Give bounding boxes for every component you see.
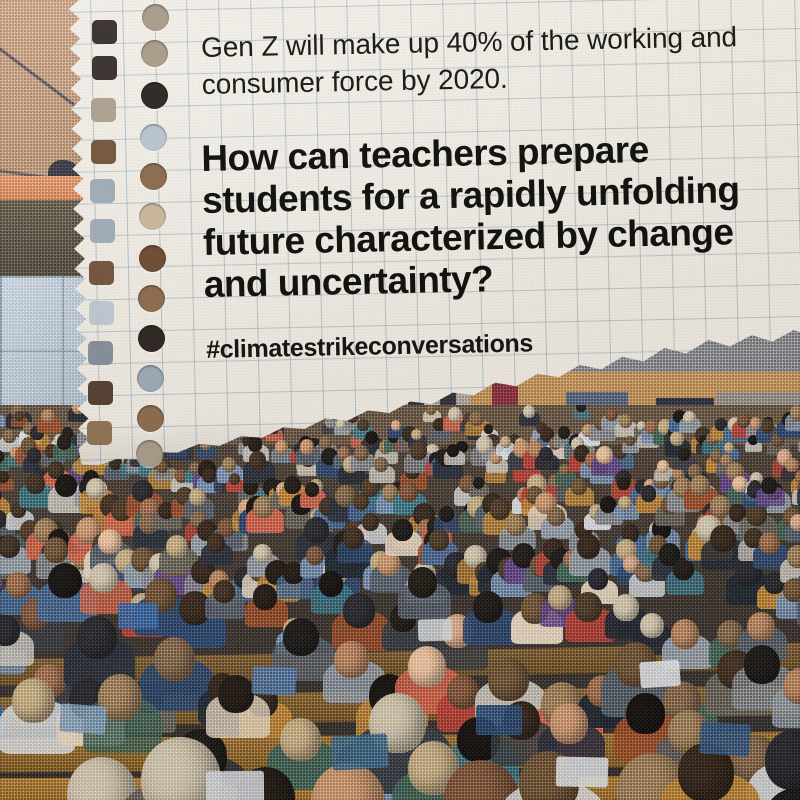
crowd-person-head [448, 407, 462, 422]
crowd-person-head [558, 426, 570, 439]
crowd-person-head [657, 460, 669, 473]
crowd-person-head [89, 563, 118, 594]
crowd-person-head [408, 567, 437, 598]
crowd-person-head [12, 678, 55, 723]
crowd-person-head [319, 571, 344, 597]
crowd-person-head [408, 646, 446, 687]
crowd-person-head [747, 612, 775, 641]
student-crowd [0, 405, 800, 800]
crowd-person-head [305, 482, 320, 497]
crowd-person-head [539, 447, 552, 461]
crowd-person-head [447, 444, 459, 456]
crowd-person-head [343, 593, 376, 628]
crowd-person-head [357, 419, 369, 431]
crowd-person-head [300, 439, 315, 455]
crowd-person-head [306, 546, 324, 565]
crowd-person-head [678, 448, 690, 461]
crowd-person-head [392, 519, 413, 541]
crowd-person-head [761, 477, 777, 494]
crowd-person-head [605, 408, 618, 422]
crowd-person-head [248, 436, 262, 451]
crowd-person-head [613, 594, 638, 621]
crowd-person-head [710, 525, 736, 552]
crowd-person-head [484, 424, 494, 434]
crowd-person-head [790, 405, 800, 420]
crowd-person-head [476, 436, 492, 453]
crowd-person-head [506, 514, 527, 536]
crowd-person-head [596, 446, 613, 464]
crowd-person-head [207, 533, 225, 552]
crowd-person-head [785, 458, 799, 472]
crowd-person-head [548, 585, 572, 610]
crowd-person-head [473, 591, 503, 623]
crowd-person-head [399, 482, 418, 502]
social-graphic-card: Gen Z will make up 40% of the working an… [0, 0, 800, 800]
crowd-person-head [362, 513, 379, 531]
crowd-person-head [473, 477, 485, 489]
crowd-person-head [374, 457, 388, 472]
crowd-person-head [626, 693, 664, 734]
crowd-person-head [617, 477, 630, 490]
crowd-person-head [343, 527, 364, 549]
crowd-person-head [673, 558, 694, 580]
crowd-person-head [354, 445, 369, 461]
crowd-person-head [275, 440, 288, 454]
crowd-person-head [14, 411, 23, 421]
crowd-person-head [253, 584, 277, 609]
crowd-person-head [253, 544, 272, 564]
crowd-person-head [77, 616, 117, 658]
crowd-person-head [574, 592, 603, 622]
crowd-device-or-paper [418, 619, 453, 642]
crowd-person-head [439, 506, 454, 522]
crowd-person-head [411, 429, 422, 440]
crowd-person-head [588, 568, 608, 590]
crowd-person-head [284, 476, 301, 494]
crowd-device-or-paper [476, 705, 522, 735]
crowd-person-head [571, 478, 587, 495]
crowd-device-or-paper [59, 703, 107, 734]
crowd-person-head [787, 545, 800, 568]
crowd-person-head [283, 618, 319, 656]
crowd-device-or-paper [556, 757, 609, 788]
crowd-person-head [671, 619, 699, 649]
crowd-person-head [391, 420, 401, 430]
crowd-person-head [500, 436, 511, 448]
crowd-person-head [469, 411, 483, 426]
crowd-person-head [41, 409, 54, 423]
question-headline: How can teachers prepare students for a … [201, 126, 800, 306]
crowd-person-head [790, 514, 800, 531]
crowd-person-head [26, 473, 46, 494]
crowd-person-head [640, 613, 664, 638]
crowd-person-head [670, 431, 684, 446]
crowd-device-or-paper [118, 603, 158, 629]
crowd-person-head [759, 532, 780, 554]
crowd-person-head [683, 411, 696, 425]
crowd-person-head [229, 473, 240, 485]
crowd-person-head [724, 442, 734, 453]
crowd-person-head [353, 493, 369, 510]
crowd-person-body [0, 414, 5, 427]
crowd-person-head [98, 529, 122, 554]
crowd-person-head [3, 429, 16, 442]
crowd-person-head [6, 572, 30, 598]
crowd-person-head [761, 419, 775, 433]
crowd-person-head [523, 405, 535, 418]
crowd-device-or-paper [639, 660, 681, 689]
crowd-person-head [619, 414, 632, 428]
crowd-person-head [365, 431, 378, 445]
crowd-person-head [625, 436, 635, 446]
crowd-person-head [550, 703, 588, 743]
crowd-device-or-paper [251, 666, 296, 696]
crowd-person-head [783, 578, 800, 603]
crowd-person-head [157, 461, 169, 474]
crowd-person-head [44, 537, 68, 562]
crowd-person-head [154, 637, 196, 681]
crowd-person-head [488, 658, 528, 701]
crowd-device-or-paper [206, 771, 264, 800]
crowd-device-or-paper [699, 721, 751, 756]
crowd-person-head [249, 451, 267, 470]
crowd-person-head [334, 641, 369, 678]
crowd-person-head [304, 517, 329, 543]
crowd-person-head [641, 485, 656, 501]
crowd-person-head [0, 471, 9, 483]
crowd-person-head [218, 675, 254, 713]
crowd-person-head [57, 435, 71, 450]
crowd-device-or-paper [331, 733, 389, 771]
crowd-person-head [744, 645, 781, 684]
crowd-person-head [547, 507, 565, 526]
stat-subtitle: Gen Z will make up 40% of the working an… [201, 19, 762, 104]
crowd-person-head [577, 534, 601, 559]
crowd-person-head [213, 580, 235, 604]
crowd-person-head [429, 529, 449, 550]
crowd-person-head [48, 563, 82, 599]
crowd-person-head [280, 718, 321, 761]
